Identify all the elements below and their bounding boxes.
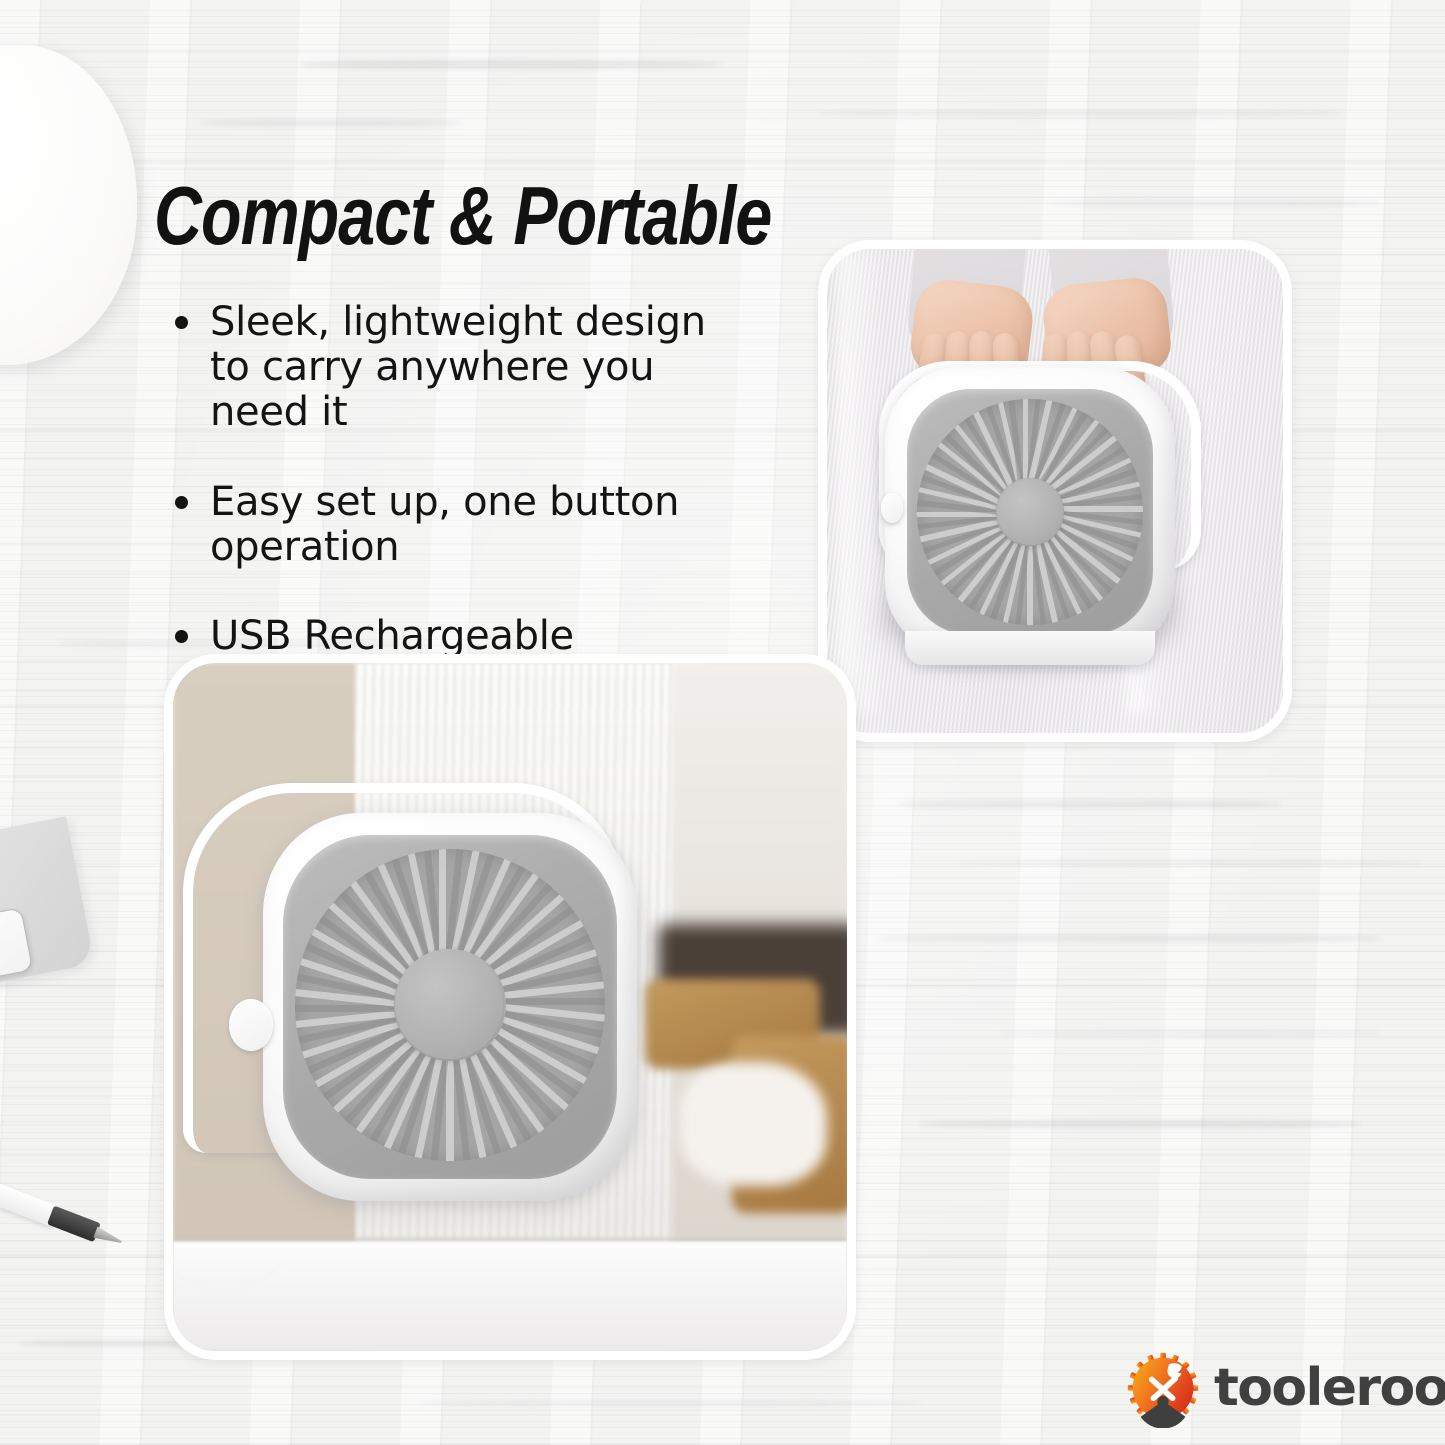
fan-hub (395, 949, 503, 1059)
list-item: Easy set up, one button operation (175, 480, 775, 570)
list-item: USB Rechargeable (175, 614, 775, 659)
feature-list: Sleek, lightweight design to carry anywh… (175, 300, 775, 703)
fan-power-button[interactable] (881, 493, 903, 523)
brand-name: tooleroo (1214, 1362, 1445, 1414)
bullet-dot-icon (175, 316, 188, 329)
page-title: Compact & Portable (154, 175, 771, 256)
room-pillow (679, 1062, 827, 1186)
portable-fan (235, 791, 637, 1201)
fan-base (905, 631, 1155, 665)
photo-hands-carrying-fan (818, 240, 1292, 742)
brand-logo[interactable]: tooleroo (1120, 1348, 1445, 1428)
portable-fan (885, 367, 1175, 657)
fan-power-button[interactable] (229, 999, 273, 1051)
list-item-label: USB Rechargeable (210, 614, 574, 659)
poster-canvas: Compact & Portable Sleek, lightweight de… (0, 0, 1445, 1445)
gear-hammer-wrench-icon (1120, 1348, 1206, 1428)
bullet-dot-icon (175, 630, 188, 643)
list-item: Sleek, lightweight design to carry anywh… (175, 300, 775, 436)
list-item-label: Easy set up, one button operation (210, 480, 755, 570)
photo-fan-on-desk (164, 654, 856, 1360)
fan-hub (997, 479, 1063, 545)
pen-tip (93, 1226, 123, 1247)
list-item-label: Sleek, lightweight design to carry anywh… (210, 300, 755, 436)
bullet-dot-icon (175, 496, 188, 509)
